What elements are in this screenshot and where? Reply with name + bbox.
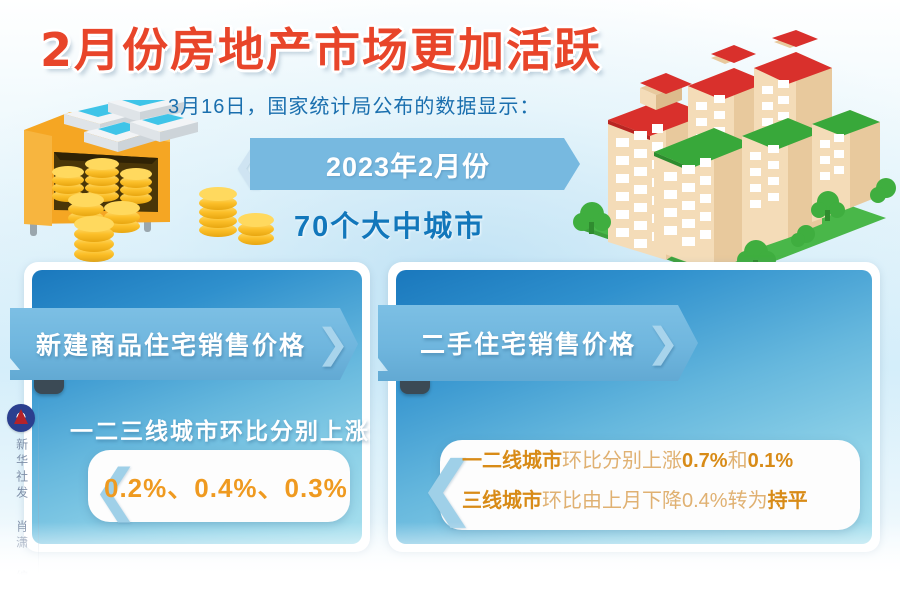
chevron-right-icon: ❯ <box>316 324 350 364</box>
line2-segment-strong-c: 持平 <box>768 490 808 512</box>
tab-new-build-label: 新建商品住宅销售价格 <box>36 326 306 362</box>
tab-second-hand-label: 二手住宅销售价格 <box>420 325 636 361</box>
credit-divider <box>38 396 39 586</box>
new-build-values: 0.2%、0.4%、0.3% <box>104 468 340 505</box>
period-label: 2023年2月份 <box>326 145 504 184</box>
line2-segment-soft-b: 转为 <box>728 490 768 512</box>
second-hand-line-1: 一二线城市环比分别上涨0.7%和0.1% <box>462 444 793 473</box>
chevron-right-icon: ❯ <box>646 323 680 363</box>
line2-segment-soft-a: 环比由上月下降 <box>542 490 682 512</box>
residential-buildings-icon <box>556 28 900 280</box>
line1-segment-strong-c: 0.1% <box>748 450 794 472</box>
credit-block: 新华社发 肖潇 编制 <box>4 404 38 592</box>
page-title: 2月份房地产市场更加活跃 <box>40 14 602 80</box>
tab-second-hand[interactable]: 二手住宅销售价格 ❯ <box>378 305 698 381</box>
xinhua-logo-icon <box>7 404 35 432</box>
page-subtitle: 3月16日，国家统计局公布的数据显示： <box>168 90 540 119</box>
credit-text: 新华社发 肖潇 编制 <box>14 438 27 592</box>
line1-segment-strong-a: 一二线城市 <box>462 450 562 472</box>
infographic-canvas: 2月份房地产市场更加活跃 3月16日，国家统计局公布的数据显示： ❮ 2023年… <box>0 0 900 592</box>
line1-segment-soft-b: 和 <box>728 450 748 472</box>
panel-fold-left <box>34 378 64 394</box>
tab-new-build[interactable]: 新建商品住宅销售价格 ❯ <box>10 308 358 380</box>
line1-segment-soft-a: 环比分别上涨 <box>562 450 682 472</box>
scope-label: 70个大中城市 <box>294 203 485 245</box>
line2-segment-strong-a: 三线城市 <box>462 490 542 512</box>
new-build-lead-text: 一二三线城市环比分别上涨 <box>70 412 370 446</box>
line2-segment-strong-b: 0.4% <box>682 490 728 512</box>
period-banner-body: 2023年2月份 <box>250 138 580 190</box>
second-hand-line-2: 三线城市环比由上月下降0.4%转为持平 <box>462 484 808 513</box>
line1-segment-strong-b: 0.7% <box>682 450 728 472</box>
